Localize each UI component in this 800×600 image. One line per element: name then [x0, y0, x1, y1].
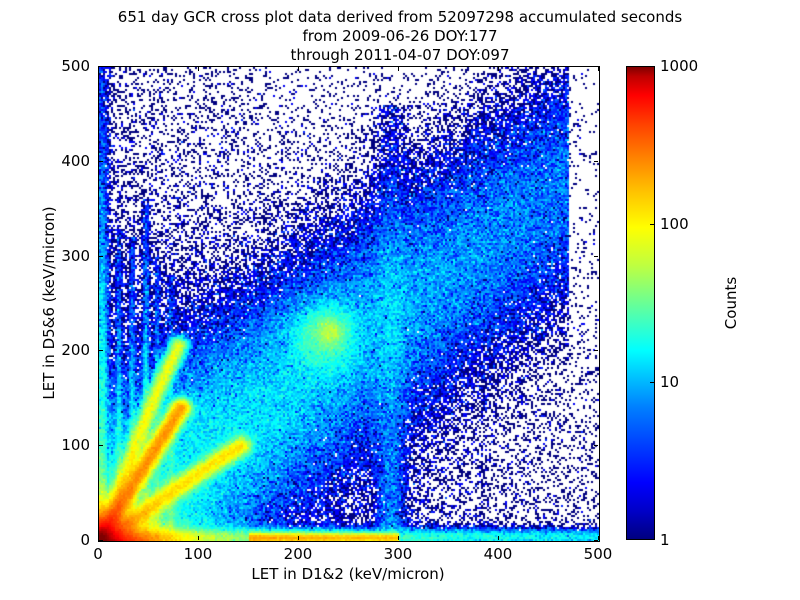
colorbar-gradient	[626, 66, 655, 540]
x-tick-label: 400	[484, 545, 513, 563]
x-tick-mark-top	[298, 67, 299, 71]
y-tick-mark	[99, 256, 103, 257]
colorbar-tick-label: 1000	[660, 57, 698, 75]
figure-canvas: 651 day GCR cross plot data derived from…	[0, 0, 800, 600]
x-tick-mark	[498, 536, 499, 540]
colorbar-tick-mark	[650, 382, 655, 383]
plot-area[interactable]	[98, 66, 600, 542]
x-tick-label: 100	[184, 545, 213, 563]
x-tick-label: 500	[584, 545, 613, 563]
colorbar[interactable]	[626, 66, 655, 540]
heatmap-scatter-canvas[interactable]	[99, 67, 599, 541]
y-tick-mark	[99, 66, 103, 67]
x-axis-title: LET in D1&2 (keV/micron)	[98, 565, 598, 583]
y-tick-mark	[99, 445, 103, 446]
colorbar-tick-label: 10	[660, 373, 679, 391]
x-tick-label: 0	[93, 545, 103, 563]
x-tick-mark-top	[598, 67, 599, 71]
y-axis-title: LET in D5&6 (keV/micron)	[40, 66, 58, 540]
y-tick-mark	[99, 350, 103, 351]
x-tick-mark	[598, 536, 599, 540]
x-tick-mark	[198, 536, 199, 540]
colorbar-tick-label: 1	[660, 531, 670, 549]
title-line-1: 651 day GCR cross plot data derived from…	[0, 8, 800, 27]
y-tick-mark-right	[594, 66, 598, 67]
x-tick-mark	[298, 536, 299, 540]
x-tick-label: 300	[384, 545, 413, 563]
x-tick-mark-top	[198, 67, 199, 71]
y-tick-mark	[99, 161, 103, 162]
y-tick-mark	[99, 540, 103, 541]
x-tick-mark	[398, 536, 399, 540]
title-line-2: from 2009-06-26 DOY:177	[0, 27, 800, 46]
x-tick-mark-top	[498, 67, 499, 71]
y-tick-mark-right	[594, 256, 598, 257]
x-tick-label: 200	[284, 545, 313, 563]
y-tick-mark-right	[594, 540, 598, 541]
x-tick-mark-top	[398, 67, 399, 71]
colorbar-tick-label: 100	[660, 215, 689, 233]
y-tick-mark-right	[594, 445, 598, 446]
y-tick-mark-right	[594, 161, 598, 162]
colorbar-title: Counts	[722, 66, 740, 540]
y-tick-mark-right	[594, 350, 598, 351]
x-tick-mark-top	[98, 67, 99, 71]
colorbar-tick-mark	[650, 224, 655, 225]
